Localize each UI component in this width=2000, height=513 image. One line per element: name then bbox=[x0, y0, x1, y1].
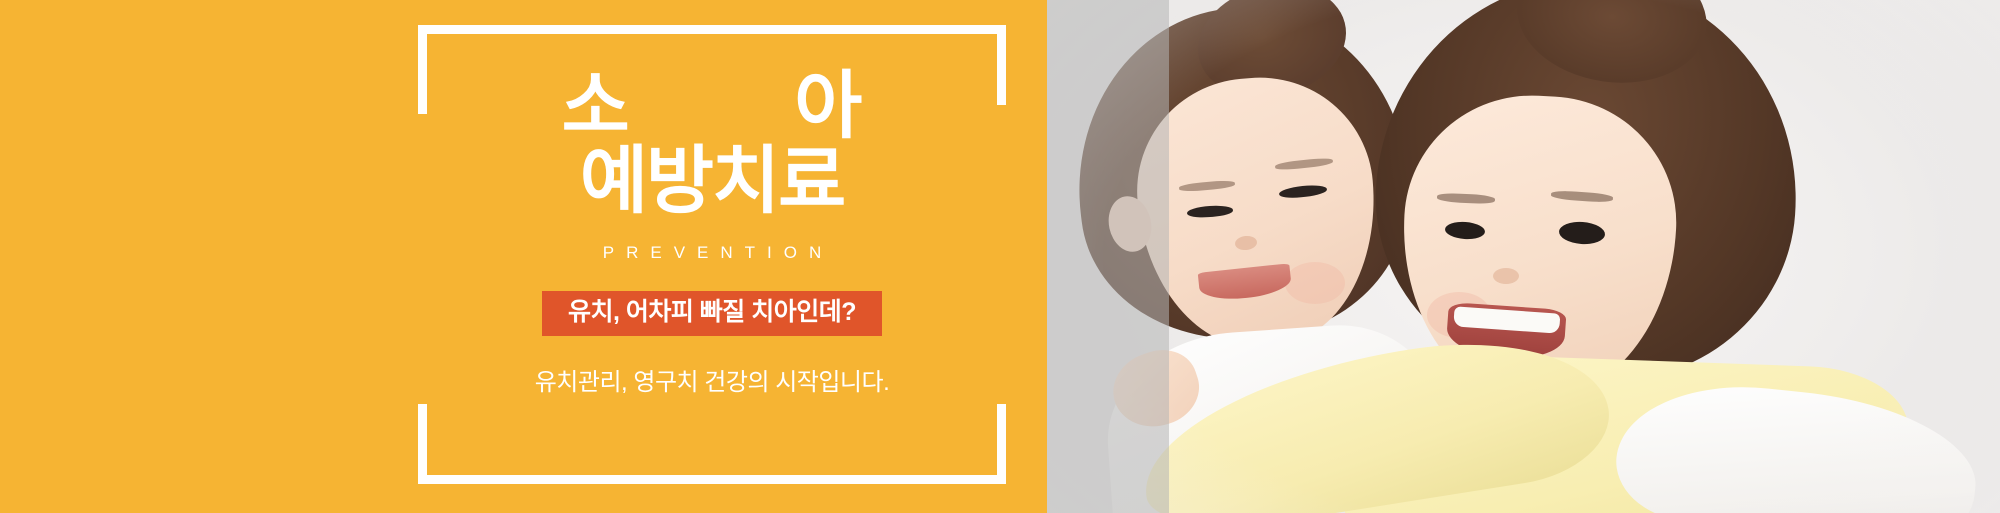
page-title: 소 아 예방치료 bbox=[562, 70, 863, 217]
promo-text-block: 소 아 예방치료 PREVENTION 유치, 어차피 빠질 치아인데? 유치관… bbox=[418, 25, 1006, 484]
prevention-promo-banner: 소 아 예방치료 PREVENTION 유치, 어차피 빠질 치아인데? 유치관… bbox=[0, 0, 2000, 513]
photo-grey-overlay bbox=[1047, 0, 1169, 513]
children-photo bbox=[1047, 0, 2000, 513]
headline-line-1: 소 아 bbox=[562, 70, 863, 143]
headline-line-2: 예방치료 bbox=[562, 145, 863, 218]
promo-subtitle: 유치관리, 영구치 건강의 시작입니다. bbox=[535, 362, 890, 397]
photo-vignette bbox=[1047, 0, 2000, 513]
status-badge: 유치, 어차피 빠질 치아인데? bbox=[542, 291, 882, 336]
headline-eyebrow: PREVENTION bbox=[591, 243, 834, 263]
